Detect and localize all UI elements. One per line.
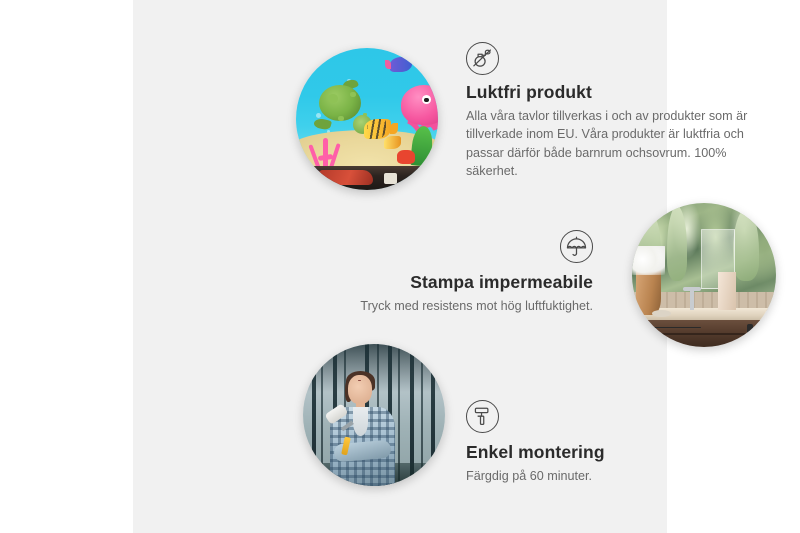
- feature-description: Färgdig på 60 minuter.: [466, 467, 726, 485]
- soap-dish: [652, 310, 671, 317]
- no-odour-spray-bottle-icon: [466, 42, 499, 75]
- faucet-icon: [690, 287, 694, 310]
- sea-turtle-icon: [314, 85, 371, 132]
- painter-woman: [327, 375, 398, 486]
- feature-title: Stampa impermeabile: [311, 272, 593, 293]
- underwater-cartoon-photo: [296, 48, 438, 190]
- product-feature-panel: Luktfri produkt Alla våra tavlor tillver…: [133, 0, 667, 533]
- paint-roller-icon: [466, 400, 499, 433]
- painter-woman-forest-photo: [303, 344, 445, 486]
- feature-easy-mounting: Enkel montering Färgdig på 60 minuter.: [466, 400, 726, 485]
- umbrella-icon: [560, 230, 593, 263]
- feature-description: Alla våra tavlor tillverkas i och av pro…: [466, 107, 766, 180]
- feature-odour-free: Luktfri produkt Alla våra tavlor tillver…: [466, 42, 766, 180]
- feature-description: Tryck med resistens mot hög luftfuktighe…: [311, 297, 593, 315]
- soap-bottle: [718, 272, 735, 309]
- screenshot-root: Luktfri produkt Alla våra tavlor tillver…: [0, 0, 800, 533]
- feature-title: Enkel montering: [466, 442, 726, 463]
- white-flowers: [632, 246, 665, 275]
- bathroom-vanity-photo: [632, 203, 776, 347]
- feature-waterproof-print: Stampa impermeabile Tryck med resistens …: [311, 230, 593, 315]
- leaf-shape: [733, 209, 759, 281]
- feature-title: Luktfri produkt: [466, 82, 766, 103]
- small-fish-icon: [384, 136, 401, 149]
- photo-bottom-band: [296, 166, 438, 190]
- leaf-shape: [667, 206, 687, 281]
- yellow-fish-icon: [364, 119, 391, 139]
- starfish-icon: [397, 150, 415, 164]
- wood-cabinet: [632, 320, 776, 347]
